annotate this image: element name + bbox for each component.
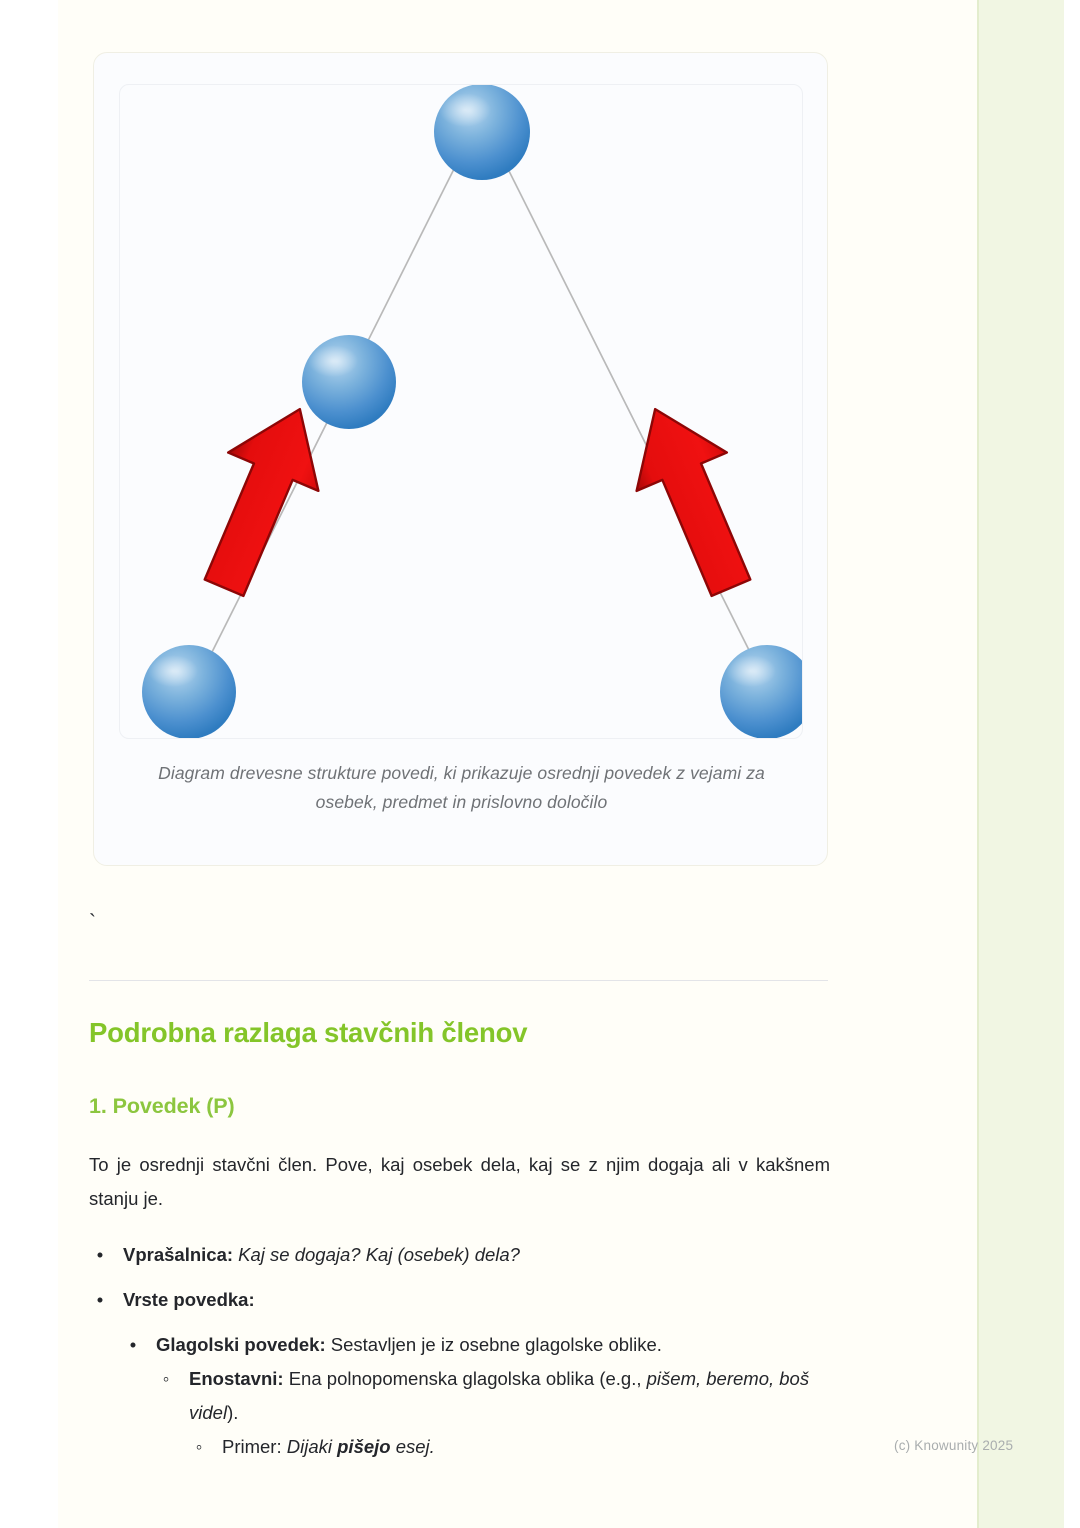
figure-caption: Diagram drevesne strukture povedi, ki pr… — [134, 759, 789, 817]
list-item-prefix: Primer: — [222, 1436, 287, 1457]
list-item-content: Primer: Dijaki pišejo esej. — [188, 1430, 830, 1464]
list-item: • Vprašalnica: Kaj se dogaja? Kaj (osebe… — [89, 1238, 830, 1272]
list-item-label: Vrste povedka: — [123, 1289, 255, 1310]
mid-left-node — [302, 335, 396, 429]
list-item-text-a: Ena polnopomenska glagolska oblika (e.g.… — [284, 1368, 647, 1389]
list-item: ◦ Enostavni: Ena polnopomenska glagolska… — [155, 1362, 830, 1430]
tree-diagram-panel — [119, 84, 803, 739]
stray-backtick: ` — [89, 912, 96, 933]
bottom-right-node — [720, 645, 802, 738]
list-item-bold-italic: pišejo — [337, 1436, 390, 1457]
list-item-italic-b: esej. — [391, 1436, 435, 1457]
list-item-label: Enostavni: — [189, 1368, 284, 1389]
bullet-disc-icon: • — [89, 1283, 111, 1317]
bullet-circle-icon: ◦ — [155, 1362, 177, 1396]
section-heading: Podrobna razlaga stavčnih členov — [89, 1017, 527, 1049]
list-item-label: Vprašalnica: — [123, 1244, 233, 1265]
copyright-watermark: (c) Knowunity 2025 — [894, 1438, 1013, 1453]
list-item: • Glagolski povedek: Sestavljen je iz os… — [122, 1328, 830, 1362]
list-item-label: Glagolski povedek: — [156, 1334, 326, 1355]
list-item-content: Enostavni: Ena polnopomenska glagolska o… — [155, 1362, 830, 1430]
list-item: • Vrste povedka: — [89, 1283, 830, 1317]
bullet-circle-icon: ◦ — [188, 1430, 210, 1464]
figure-card: Diagram drevesne strukture povedi, ki pr… — [93, 52, 828, 866]
definition-list: • Vprašalnica: Kaj se dogaja? Kaj (osebe… — [89, 1238, 830, 1464]
subsection-heading: 1. Povedek (P) — [89, 1094, 235, 1119]
bullet-disc-icon: • — [122, 1328, 144, 1362]
intro-paragraph: To je osrednji stavčni člen. Pove, kaj o… — [89, 1148, 830, 1216]
left-red-arrow — [179, 390, 345, 607]
list-item-content: Vprašalnica: Kaj se dogaja? Kaj (osebek)… — [89, 1238, 830, 1272]
list-item: ◦ Primer: Dijaki pišejo esej. — [188, 1430, 830, 1464]
apex-node — [434, 85, 530, 180]
bullet-disc-icon: • — [89, 1238, 111, 1272]
list-item-italic-a: Dijaki — [287, 1436, 337, 1457]
list-item-italic: Kaj se dogaja? Kaj (osebek) dela? — [233, 1244, 520, 1265]
list-item-text: Sestavljen je iz osebne glagolske oblike… — [326, 1334, 662, 1355]
list-item-content: Vrste povedka: — [89, 1283, 830, 1317]
tree-diagram-svg — [120, 85, 802, 738]
document-content: Diagram drevesne strukture povedi, ki pr… — [0, 0, 1080, 1528]
bottom-left-node — [142, 645, 236, 738]
list-item-content: Glagolski povedek: Sestavljen je iz oseb… — [122, 1328, 830, 1362]
list-item-text-b: ). — [227, 1402, 238, 1423]
horizontal-divider — [89, 980, 828, 981]
